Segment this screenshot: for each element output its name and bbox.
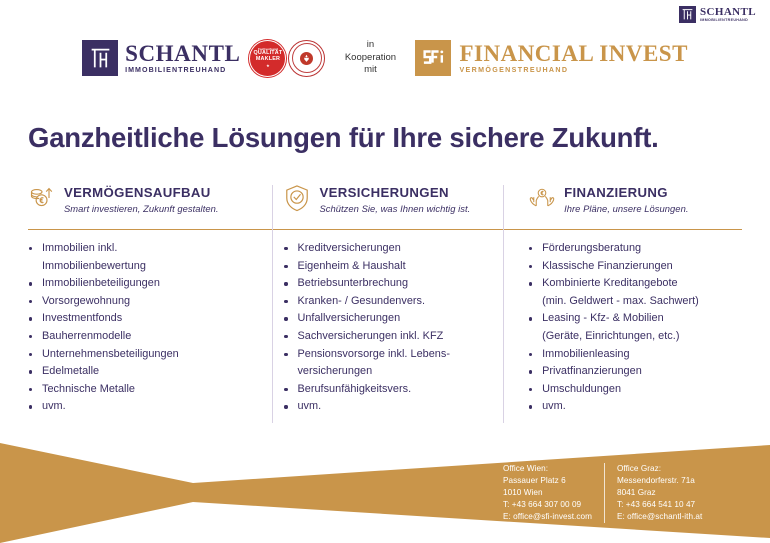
list-item-label: Immobilien inkl. — [42, 242, 117, 254]
list-item: Kombinierte Kreditangebote (min. Geldwer… — [528, 275, 742, 310]
coins-euro-growth-icon — [28, 183, 56, 212]
office-street: Messendorferstr. 71a — [617, 475, 702, 487]
column-vermoegensaufbau: VERMÖGENSAUFBAU Smart investieren, Zukun… — [28, 183, 274, 223]
list-item: Unternehmensbeteiligungen — [28, 346, 274, 364]
list-item-label: uvm. — [542, 400, 566, 412]
list-item: Leasing - Kfz- & Mobilien (Geräte, Einri… — [528, 310, 742, 345]
corner-brand-subtitle: IMMOBILIENTREUHAND — [700, 19, 756, 23]
office-phone[interactable]: T: +43 664 541 10 47 — [617, 499, 702, 511]
list-item-label: Umschuldungen — [542, 383, 621, 395]
office-graz: Office Graz: Messendorferstr. 71a 8041 G… — [604, 463, 702, 523]
column-title: VERSICHERUNGEN — [319, 185, 470, 200]
list-item: Immobilienbeteiligungen — [28, 275, 274, 293]
sfi-brand-name: FINANCIAL INVEST — [459, 42, 687, 65]
list-item-label: Betriebsunterbrechung — [297, 277, 408, 289]
list-item: Förderungsberatung — [528, 240, 742, 258]
list-item-label: Kombinierte Kreditangebote — [542, 277, 678, 289]
list-item-label: uvm. — [42, 400, 66, 412]
corner-brand-name: SCHANTL — [700, 7, 756, 18]
list-vermoegensaufbau: Immobilien inkl. Immobilienbewertung Imm… — [28, 240, 274, 416]
list-item-label: Eigenheim & Haushalt — [297, 260, 405, 272]
list-item-label: Vorsorgewohnung — [42, 295, 130, 307]
brochure-page: SCHANTL IMMOBILIENTREUHAND SCHANTL — [0, 0, 770, 543]
list-item: Bauherrenmodelle — [28, 328, 274, 346]
list-item-continuation: Immobilienbewertung — [42, 258, 274, 276]
column-subtitle: Schützen Sie, was Ihnen wichtig ist. — [319, 203, 470, 214]
header-logo-bar: SCHANTL IMMOBILIENTREUHAND Fachverband Q… — [0, 33, 770, 83]
cooperation-note: in Kooperation mit — [341, 39, 399, 77]
list-item-label: Unfallversicherungen — [297, 312, 400, 324]
list-item: Vorsorgewohnung — [28, 293, 274, 311]
list-item: Umschuldungen — [528, 381, 742, 399]
list-item-label: uvm. — [297, 400, 321, 412]
office-label: Office Graz: — [617, 463, 702, 475]
schantl-brand-subtitle: IMMOBILIENTREUHAND — [125, 67, 240, 74]
ith-monogram-icon — [82, 40, 118, 76]
list-item-label: Privatfinanzierungen — [542, 365, 642, 377]
list-item: Kreditversicherungen — [283, 240, 518, 258]
schantl-brand-name: SCHANTL — [125, 42, 240, 65]
list-item: Investmentfonds — [28, 310, 274, 328]
qualitaets-makler-seal: Fachverband QUALITÄT MAKLER ★ — [249, 40, 286, 77]
service-lists: Immobilien inkl. Immobilienbewertung Imm… — [28, 240, 742, 416]
list-item: uvm. — [283, 398, 518, 416]
list-item-label: Berufsunfähigkeitsvers. — [297, 383, 411, 395]
list-item: Klassische Finanzierungen — [528, 258, 742, 276]
seal-star-icon: ★ — [266, 63, 270, 68]
page-headline: Ganzheitliche Lösungen für Ihre sichere … — [28, 122, 659, 154]
sfi-logo: FINANCIAL INVEST VERMÖGENSTREUHAND — [415, 40, 687, 76]
list-item-label: Edelmetalle — [42, 365, 99, 377]
list-item-label: Technische Metalle — [42, 383, 135, 395]
list-item: Kranken- / Gesundenvers. — [283, 293, 518, 311]
schantl-logo: SCHANTL IMMOBILIENTREUHAND — [82, 40, 240, 76]
list-item: Privatfinanzierungen — [528, 363, 742, 381]
corner-brand-logo: SCHANTL IMMOBILIENTREUHAND — [679, 6, 756, 23]
certification-seals: Fachverband QUALITÄT MAKLER ★ — [249, 40, 325, 77]
list-item-label: Immobilienbeteiligungen — [42, 277, 160, 289]
ith-monogram-icon — [679, 6, 696, 23]
list-item-label: Investmentfonds — [42, 312, 122, 324]
wirtschaftskammer-seal — [288, 40, 325, 77]
list-item-label: Kranken- / Gesundenvers. — [297, 295, 425, 307]
list-item: Technische Metalle — [28, 381, 274, 399]
cooperation-line-2: Kooperation — [341, 52, 399, 65]
column-subtitle: Smart investieren, Zukunft gestalten. — [64, 203, 219, 214]
list-item: Berufsunfähigkeitsvers. — [283, 381, 518, 399]
sfi-monogram-icon — [415, 40, 451, 76]
list-item-label: Unternehmensbeteiligungen — [42, 348, 179, 360]
list-item: Immobilienleasing — [528, 346, 742, 364]
bullet-list: Förderungsberatung Klassische Finanzieru… — [528, 240, 742, 416]
gold-divider — [28, 229, 742, 230]
list-item-continuation: (min. Geldwert - max. Sachwert) — [542, 293, 742, 311]
list-item-label: Immobilienleasing — [542, 348, 630, 360]
office-street: Passauer Platz 6 — [503, 475, 592, 487]
column-versicherungen: VERSICHERUNGEN Schützen Sie, was Ihnen w… — [274, 183, 518, 223]
column-finanzierung: FINANZIERUNG Ihre Pläne, unsere Lösungen… — [518, 183, 742, 223]
cooperation-line-1: in — [341, 39, 399, 52]
list-finanzierung: Förderungsberatung Klassische Finanzieru… — [518, 240, 742, 416]
service-column-headers: VERMÖGENSAUFBAU Smart investieren, Zukun… — [28, 183, 742, 223]
list-item-label: Bauherrenmodelle — [42, 330, 131, 342]
list-item: Sachversicherungen inkl. KFZ — [283, 328, 518, 346]
list-item-label: Kreditversicherungen — [297, 242, 400, 254]
list-item: uvm. — [28, 398, 274, 416]
list-versicherungen: Kreditversicherungen Eigenheim & Haushal… — [274, 240, 518, 416]
list-item-continuation: versicherungen — [297, 363, 518, 381]
sfi-brand-subtitle: VERMÖGENSTREUHAND — [459, 67, 687, 74]
column-title: FINANZIERUNG — [564, 185, 688, 200]
hands-holding-coin-icon — [528, 183, 556, 212]
list-item-label: Pensionsvorsorge inkl. Lebens- — [297, 348, 450, 360]
office-email[interactable]: E: office@sfi-invest.com — [503, 511, 592, 523]
list-item-label: Leasing - Kfz- & Mobilien — [542, 312, 664, 324]
list-item: Pensionsvorsorge inkl. Lebens- versicher… — [283, 346, 518, 381]
list-item: Edelmetalle — [28, 363, 274, 381]
list-item: uvm. — [528, 398, 742, 416]
seal-ring — [292, 43, 323, 74]
list-item-label: Klassische Finanzierungen — [542, 260, 673, 272]
bullet-list: Immobilien inkl. Immobilienbewertung Imm… — [28, 240, 274, 416]
list-item-label: Sachversicherungen inkl. KFZ — [297, 330, 443, 342]
list-item-label: Förderungsberatung — [542, 242, 641, 254]
list-item: Betriebsunterbrechung — [283, 275, 518, 293]
office-city: 8041 Graz — [617, 487, 702, 499]
office-phone[interactable]: T: +43 664 307 00 09 — [503, 499, 592, 511]
office-city: 1010 Wien — [503, 487, 592, 499]
list-item: Immobilien inkl. Immobilienbewertung — [28, 240, 274, 275]
list-item: Eigenheim & Haushalt — [283, 258, 518, 276]
office-label: Office Wien: — [503, 463, 592, 475]
cooperation-line-3: mit — [341, 64, 399, 77]
list-item-continuation: (Geräte, Einrichtungen, etc.) — [542, 328, 742, 346]
list-item: Unfallversicherungen — [283, 310, 518, 328]
office-wien: Office Wien: Passauer Platz 6 1010 Wien … — [503, 463, 604, 523]
column-subtitle: Ihre Pläne, unsere Lösungen. — [564, 203, 688, 214]
column-title: VERMÖGENSAUFBAU — [64, 185, 219, 200]
footer-contacts: Office Wien: Passauer Platz 6 1010 Wien … — [503, 463, 702, 523]
bullet-list: Kreditversicherungen Eigenheim & Haushal… — [283, 240, 518, 416]
office-email[interactable]: E: office@schantl-ith.at — [617, 511, 702, 523]
shield-check-icon — [283, 183, 311, 212]
